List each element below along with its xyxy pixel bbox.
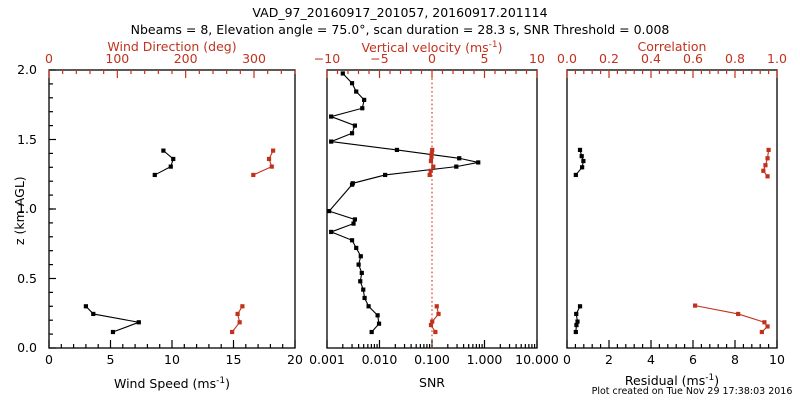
data-point: [428, 173, 432, 177]
data-point: [476, 160, 480, 164]
data-point: [736, 312, 740, 316]
data-point: [358, 279, 362, 283]
panel-residual-top-tick-1: 0.2: [599, 53, 619, 66]
data-point: [435, 304, 439, 308]
data-point: [765, 174, 769, 178]
panel-residual-top-tick-3: 0.6: [683, 53, 703, 66]
data-point: [575, 319, 579, 323]
data-point: [350, 81, 354, 85]
series-line-residual-correlation-0: [695, 306, 767, 332]
data-point: [370, 330, 374, 334]
series-line-wind-wind-direction-1: [253, 151, 273, 175]
panel-wind-top-tick-1: 100: [105, 53, 129, 66]
panel-wind-bottom-tick-0: 0: [45, 354, 53, 367]
data-point: [762, 320, 766, 324]
data-point: [169, 165, 173, 169]
data-point: [430, 319, 434, 323]
data-point: [354, 246, 358, 250]
data-point: [240, 304, 244, 308]
data-point: [91, 312, 95, 316]
data-point: [761, 169, 765, 173]
data-point: [580, 165, 584, 169]
data-point: [578, 304, 582, 308]
y-tick-label-1: 0.5: [17, 273, 37, 286]
data-point: [236, 312, 240, 316]
panel-snr-top-tick-1: −5: [370, 53, 388, 66]
panel-wind-bottom-tick-2: 10: [164, 354, 180, 367]
panel-residual-bottom-tick-5: 10: [769, 354, 785, 367]
data-point: [329, 139, 333, 143]
panel-snr-top-tick-0: −10: [314, 53, 340, 66]
panel-snr-top-tick-2: 0: [428, 53, 436, 66]
series-line-wind-wind-speed-1: [155, 151, 173, 175]
y-tick-label-2: 1.0: [17, 203, 37, 216]
y-tick-label-0: 0.0: [17, 342, 37, 355]
panel-snr-top-tick-4: 10: [529, 53, 545, 66]
data-point: [354, 89, 358, 93]
data-point: [353, 217, 357, 221]
data-point: [574, 312, 578, 316]
panel-wind-bottom-tick-4: 20: [287, 354, 303, 367]
panel-residual-bottom-tick-4: 8: [731, 354, 739, 367]
data-point: [359, 254, 363, 258]
data-point: [574, 330, 578, 334]
data-point: [360, 271, 364, 275]
data-point: [454, 165, 458, 169]
panel-snr-bottom-tick-4: 10.000: [515, 354, 559, 367]
data-point: [361, 288, 365, 292]
panel-residual-bottom-tick-3: 6: [689, 354, 697, 367]
data-point: [377, 322, 381, 326]
panel-snr-bottom-tick-2: 0.100: [414, 354, 450, 367]
data-point: [763, 163, 767, 167]
data-point: [329, 230, 333, 234]
data-point: [341, 71, 345, 75]
panel-residual-top-tick-2: 0.4: [641, 53, 661, 66]
data-point: [429, 159, 433, 163]
data-point: [251, 173, 255, 177]
panel-residual-top-tick-5: 1.0: [767, 53, 787, 66]
data-point: [357, 263, 361, 267]
data-point: [267, 157, 271, 161]
data-point: [436, 312, 440, 316]
panel-snr-bottom-tick-0: 0.001: [309, 354, 345, 367]
data-point: [578, 148, 582, 152]
data-point: [271, 149, 275, 153]
data-point: [574, 173, 578, 177]
y-tick-label-3: 1.5: [17, 134, 37, 147]
panel-snr-top-tick-3: 5: [481, 53, 489, 66]
data-point: [693, 304, 697, 308]
plot-canvas: VAD_97_20160917_201057, 20160917.201114 …: [0, 0, 800, 400]
data-point: [270, 165, 274, 169]
panel-residual-bottom-tick-1: 2: [605, 354, 613, 367]
data-point: [362, 296, 366, 300]
data-point: [360, 106, 364, 110]
data-point: [153, 173, 157, 177]
data-point: [351, 181, 355, 185]
panel-wind-bottom-tick-1: 5: [107, 354, 115, 367]
data-point: [84, 304, 88, 308]
data-point: [581, 159, 585, 163]
data-point: [171, 157, 175, 161]
y-tick-label-4: 2.0: [17, 64, 37, 77]
panel-wind-top-tick-3: 300: [242, 53, 266, 66]
data-point: [765, 156, 769, 160]
data-point: [429, 169, 433, 173]
data-point: [327, 209, 331, 213]
data-point: [395, 148, 399, 152]
panel-snr-bottom-tick-3: 1.000: [467, 354, 503, 367]
data-point: [353, 124, 357, 128]
data-point: [376, 313, 380, 317]
data-point: [161, 149, 165, 153]
series-line-wind-wind-speed-0: [86, 306, 139, 332]
panel-wind-bottom-tick-3: 15: [226, 354, 242, 367]
data-point: [111, 330, 115, 334]
data-point: [238, 320, 242, 324]
panel-residual-bottom-tick-2: 4: [647, 354, 655, 367]
data-point: [350, 131, 354, 135]
data-point: [580, 154, 584, 158]
data-point: [765, 324, 769, 328]
series-line-residual-residual-0: [576, 306, 580, 332]
data-point: [760, 330, 764, 334]
data-point: [767, 148, 771, 152]
data-point: [350, 238, 354, 242]
data-point: [137, 320, 141, 324]
panel-residual-top-tick-4: 0.8: [725, 53, 745, 66]
panel-wind-top-tick-2: 200: [174, 53, 198, 66]
data-point: [383, 173, 387, 177]
data-point: [431, 165, 435, 169]
data-point: [430, 148, 434, 152]
data-point: [230, 330, 234, 334]
panel-residual-bottom-tick-0: 0: [563, 354, 571, 367]
panel-residual-top-tick-0: 0.0: [557, 53, 577, 66]
series-line-wind-wind-direction-0: [232, 306, 242, 332]
panel-wind-top-tick-0: 0: [45, 53, 53, 66]
panel-snr-bottom-tick-1: 0.010: [362, 354, 398, 367]
data-point: [351, 222, 355, 226]
series-line-snr-snr-0: [329, 73, 478, 332]
data-point: [329, 114, 333, 118]
data-point: [457, 156, 461, 160]
data-point: [362, 98, 366, 102]
data-point: [433, 330, 437, 334]
data-point: [367, 304, 371, 308]
